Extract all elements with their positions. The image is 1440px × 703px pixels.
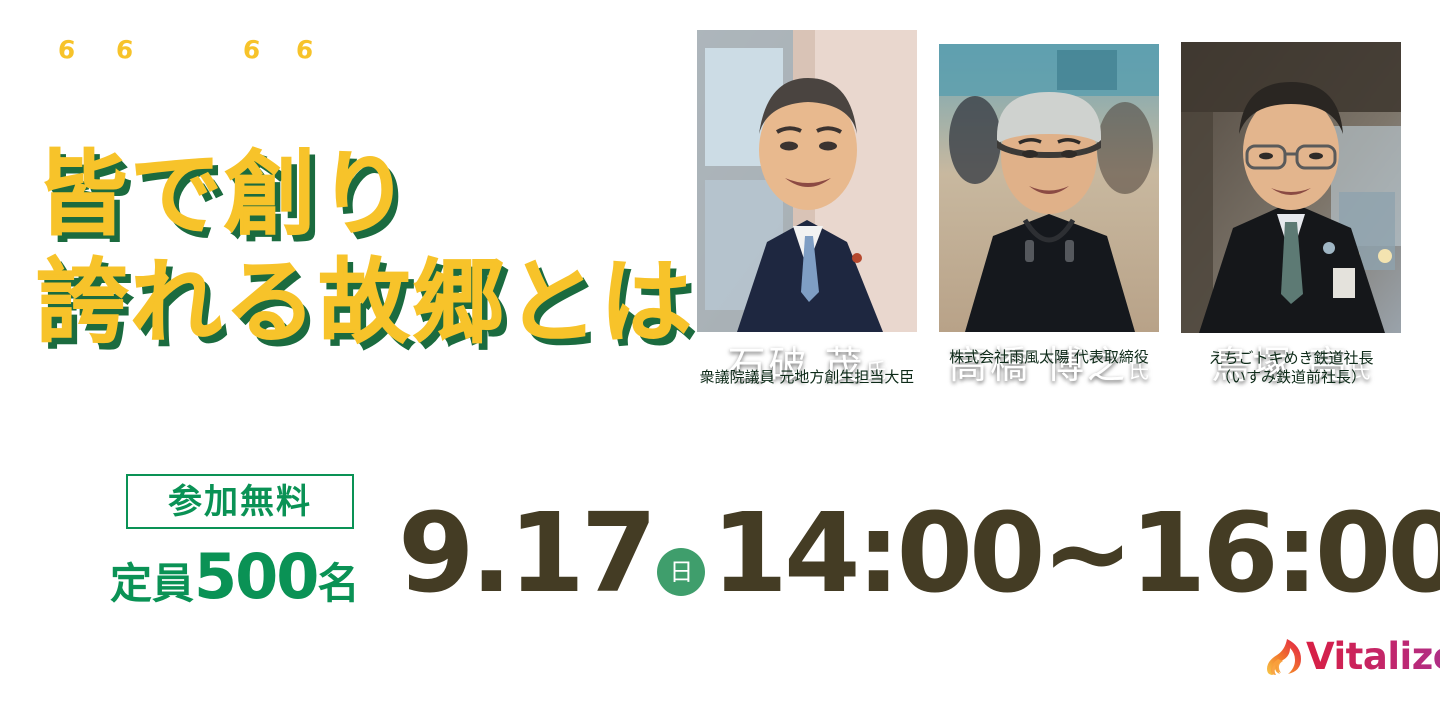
- vitalize-wordmark: Vitalize: [1306, 638, 1440, 675]
- speaker-role: えちごトキめき鉄道社長 （いすみ鉄道前社長）: [1164, 349, 1418, 387]
- weekday-badge: 日: [657, 548, 705, 596]
- vitalize-logo: Vitalize: [1262, 636, 1440, 676]
- kicker-text: 千葉から全国へ: [36, 58, 379, 122]
- flame-icon: [1262, 636, 1302, 676]
- speaker-list: 石破 茂氏 衆議院議員 元地方創生担当大臣: [686, 30, 1412, 390]
- event-time: 14:00~16:00: [711, 498, 1440, 608]
- speaker-photo: [697, 30, 917, 332]
- capacity-suffix: 名: [317, 559, 359, 608]
- subheadline-text: ~令和の地方創生を考える~: [34, 355, 566, 413]
- event-datetime: 9.17 日 14:00~16:00: [398, 498, 1440, 608]
- speaker-card-torizuka: 鳥塚 亮氏 えちごトキめき鉄道社長 （いすみ鉄道前社長）: [1170, 30, 1412, 390]
- speaker-card-takahashi: 高橋 博之氏 株式会社雨風太陽 代表取締役: [928, 30, 1170, 390]
- capacity-number: 500: [194, 540, 317, 613]
- free-admission-badge: 参加無料: [126, 474, 354, 529]
- event-date: 9.17: [398, 498, 653, 608]
- free-admission-label: 参加無料: [168, 485, 312, 519]
- speaker-card-ishiba: 石破 茂氏 衆議院議員 元地方創生担当大臣: [686, 30, 928, 390]
- speaker-role: 衆議院議員 元地方創生担当大臣: [680, 368, 934, 387]
- capacity-text: 定員500名: [110, 546, 359, 608]
- speaker-photo: [939, 44, 1159, 332]
- capacity-prefix: 定員: [110, 559, 194, 608]
- event-banner: 9 9 9 9 千葉から全国へ 皆で創り 誇れる故郷とは ~令和の地方創生を考え…: [0, 0, 1440, 703]
- speaker-photo: [1181, 42, 1401, 333]
- headline-line-2: 誇れる故郷とは: [36, 228, 694, 361]
- speaker-role: 株式会社雨風太陽 代表取締役: [922, 348, 1176, 367]
